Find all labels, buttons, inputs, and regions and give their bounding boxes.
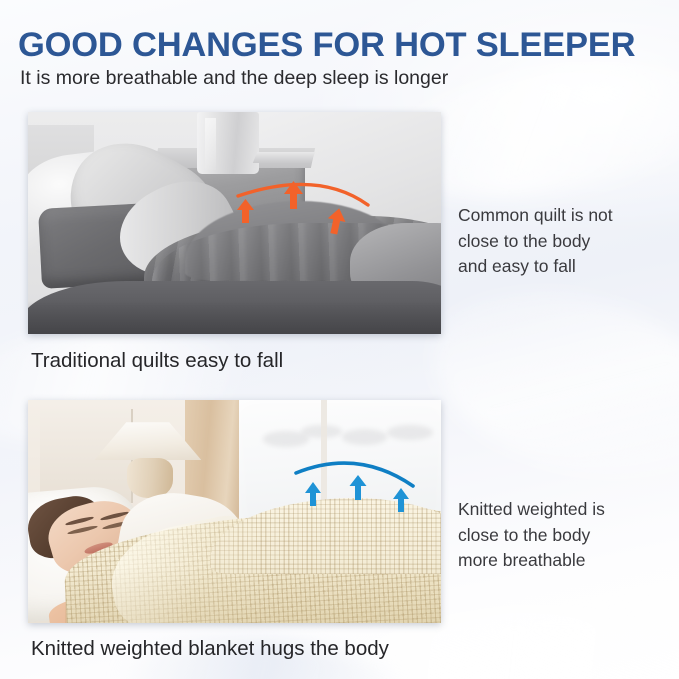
caption-traditional-quilt: Traditional quilts easy to fall <box>31 348 283 374</box>
description-traditional-quilt: Common quilt is not close to the body an… <box>458 203 670 280</box>
photo-panel-traditional-quilt <box>28 112 441 334</box>
photo-traditional-quilt <box>28 112 441 334</box>
description-knitted-blanket: Knitted weighted is close to the body mo… <box>458 497 670 574</box>
page-subtitle: It is more breathable and the deep sleep… <box>20 66 448 90</box>
photo-panel-knitted-blanket <box>28 400 441 623</box>
lamp-object <box>197 112 259 174</box>
infographic-page: GOOD CHANGES FOR HOT SLEEPER It is more … <box>0 0 679 679</box>
page-title: GOOD CHANGES FOR HOT SLEEPER <box>18 25 668 65</box>
background-silk-streak <box>412 262 679 508</box>
caption-knitted-blanket: Knitted weighted blanket hugs the body <box>31 636 389 662</box>
photo-knitted-blanket <box>28 400 441 623</box>
